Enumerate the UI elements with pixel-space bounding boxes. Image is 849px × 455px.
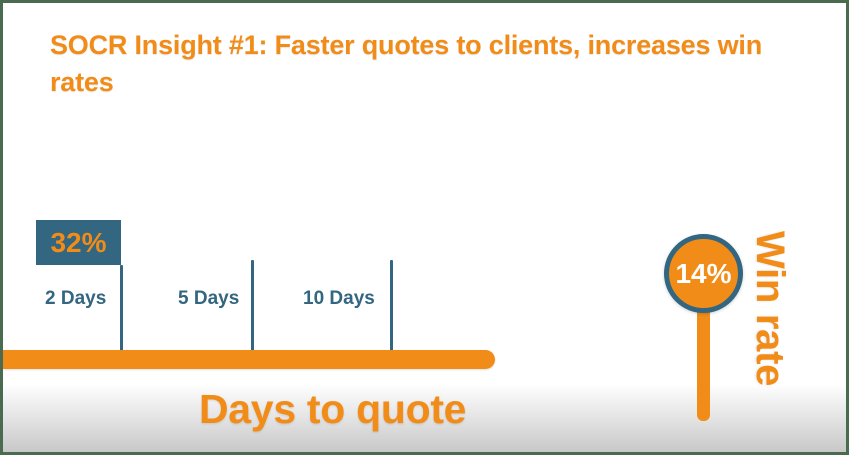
axis-tick-10-days bbox=[390, 260, 393, 355]
slide-canvas: SOCR Insight #1: Faster quotes to client… bbox=[0, 0, 849, 455]
axis-tick-5-days bbox=[251, 260, 254, 355]
win-rate-value-label: 14% bbox=[675, 260, 731, 288]
win-rate-pin-circle: 14% bbox=[664, 234, 743, 313]
axis-tick-2-days bbox=[120, 265, 123, 355]
x-axis-caption: Days to quote bbox=[199, 386, 466, 433]
flag-value-label: 32% bbox=[50, 229, 106, 257]
axis-label-5-days: 5 Days bbox=[178, 288, 239, 310]
y-axis-caption: Win rate bbox=[747, 231, 792, 421]
flag-badge-32: 32% bbox=[36, 220, 121, 265]
page-title: SOCR Insight #1: Faster quotes to client… bbox=[50, 27, 790, 102]
horizontal-axis-bar bbox=[3, 350, 495, 369]
axis-label-10-days: 10 Days bbox=[303, 288, 375, 310]
axis-label-2-days: 2 Days bbox=[45, 288, 106, 310]
